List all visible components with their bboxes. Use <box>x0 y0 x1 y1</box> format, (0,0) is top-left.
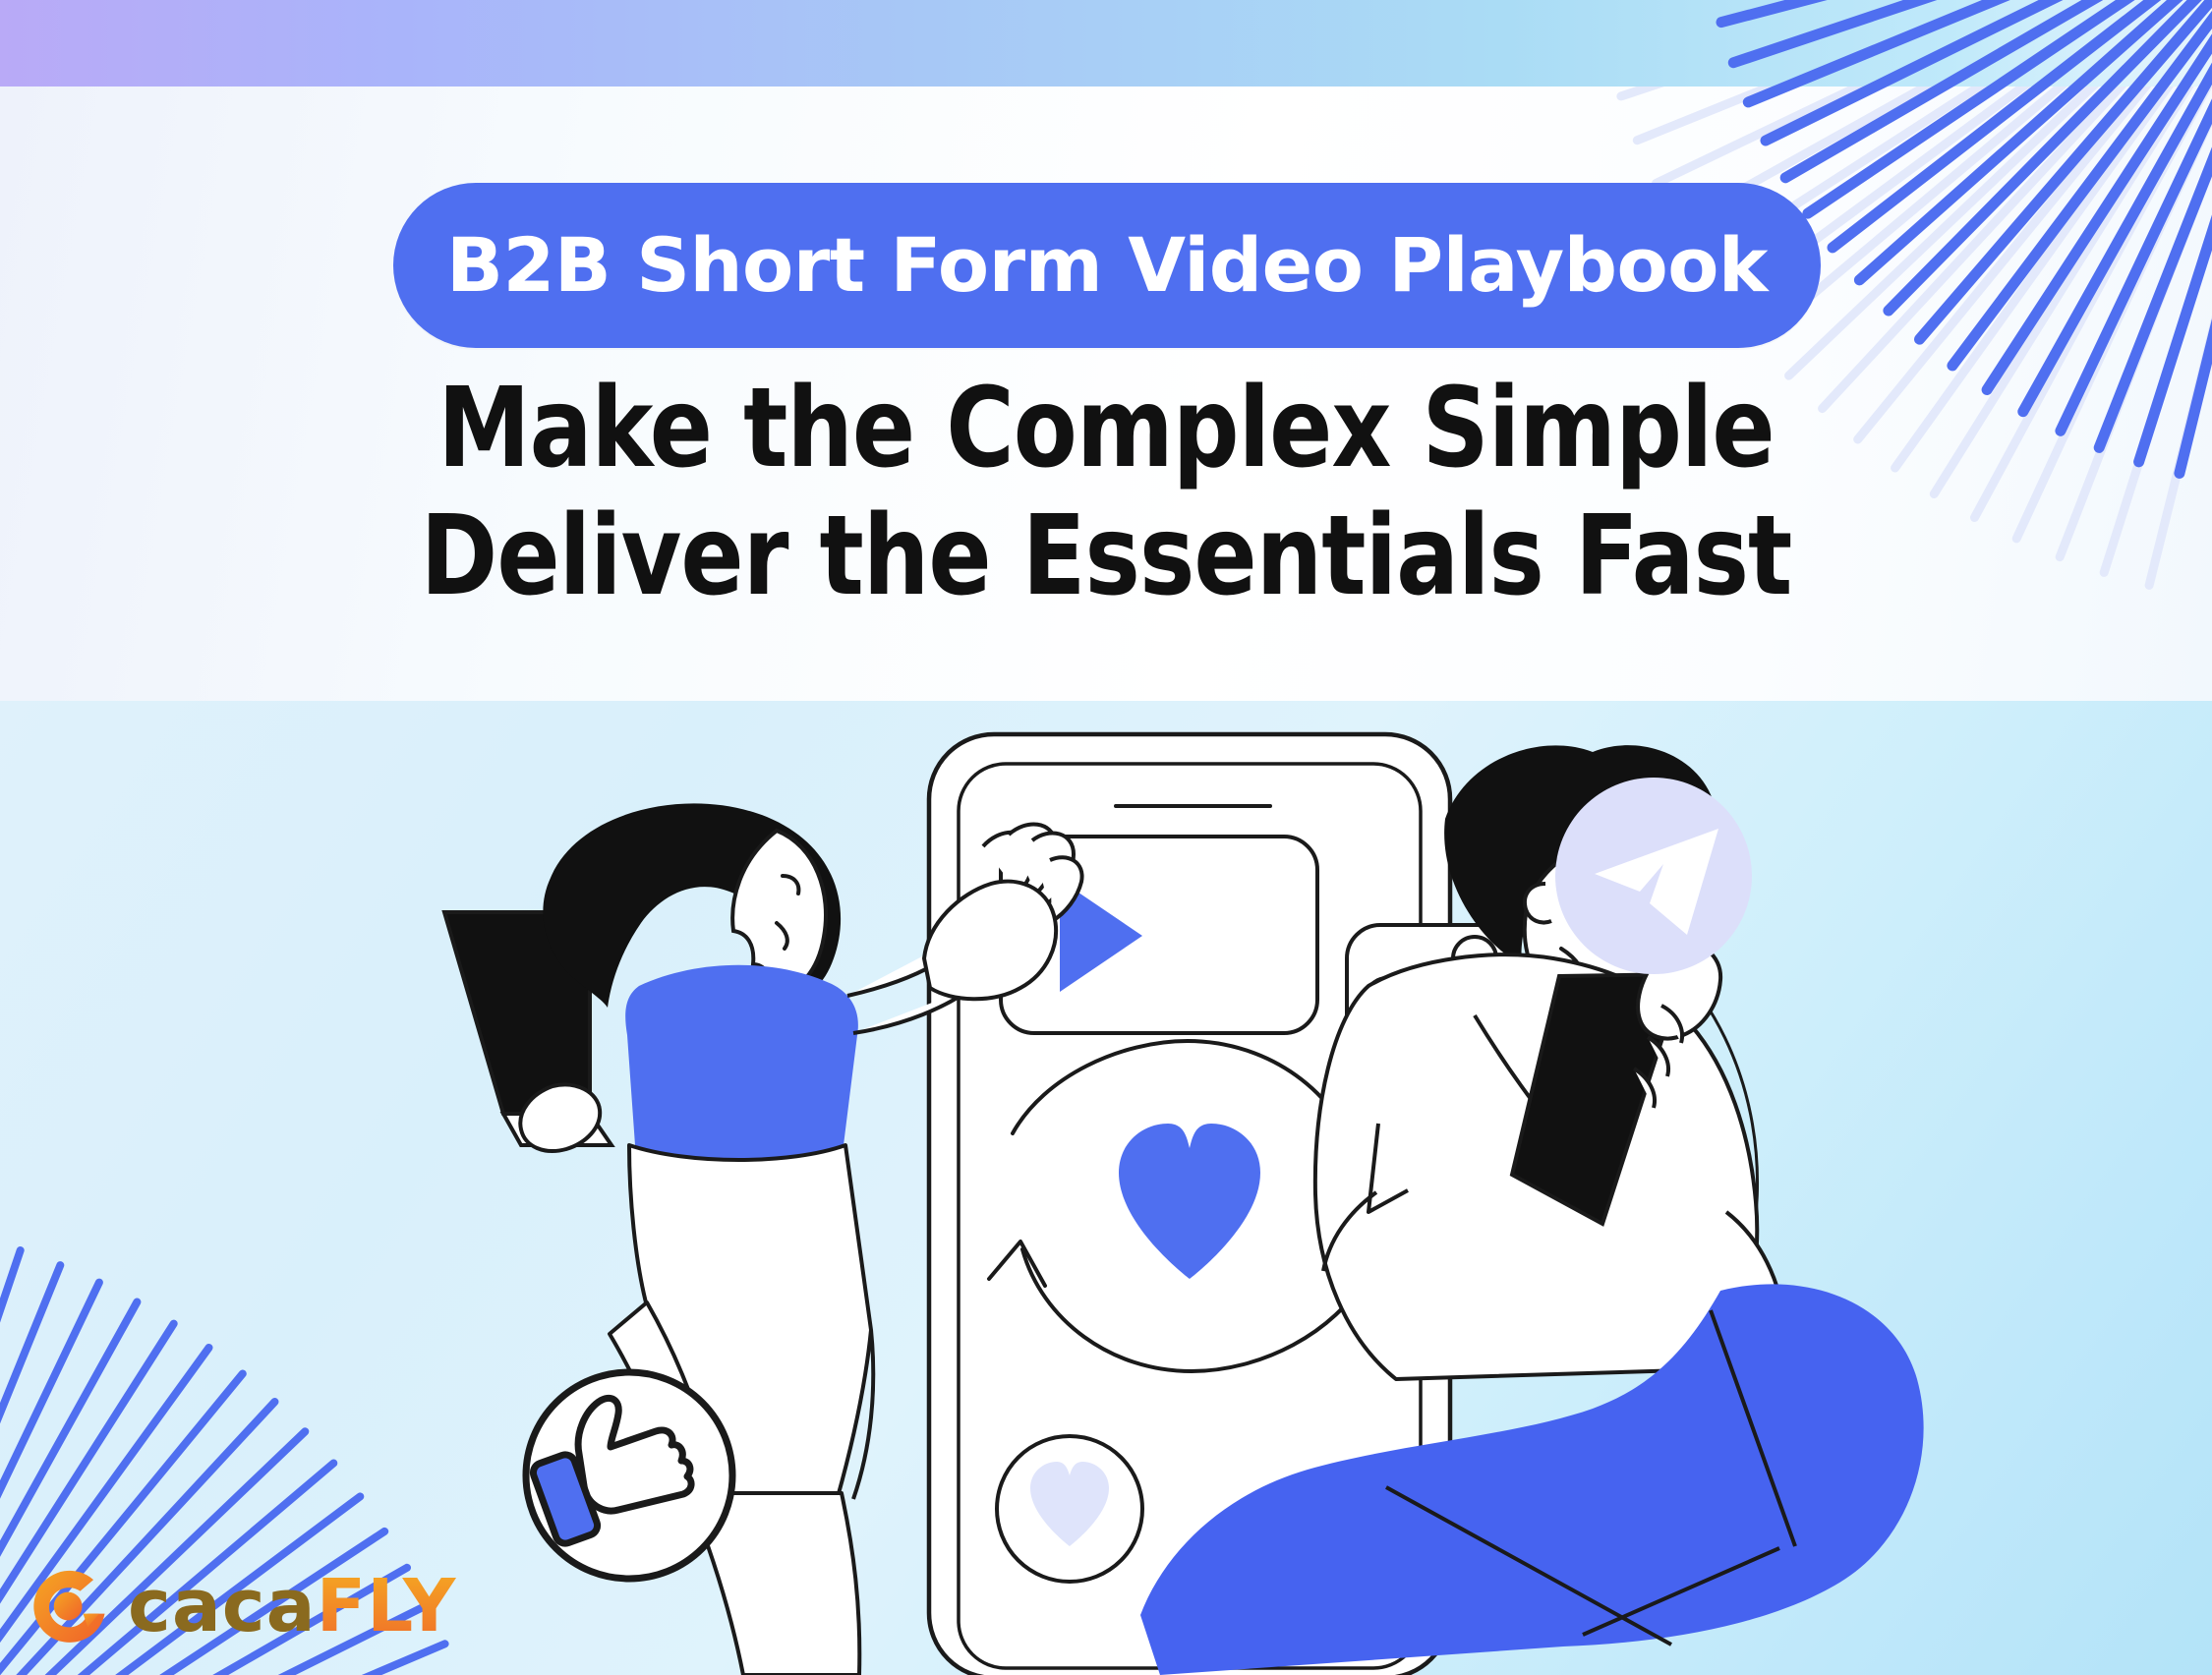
badge-pill: B2B Short Form Video Playbook <box>393 183 1821 348</box>
top-gradient-band <box>0 0 2212 87</box>
headline-line-1: Make the Complex Simple <box>67 366 2146 493</box>
brand-name-part1: caca <box>128 1570 317 1643</box>
shirt <box>625 965 858 1159</box>
small-heart-badge <box>997 1436 1142 1582</box>
thumbs-up-badge <box>516 1362 742 1588</box>
poster-canvas: B2B Short Form Video Playbook Make the C… <box>0 0 2212 1675</box>
brand-logo: cacaFLY <box>24 1553 456 1659</box>
headline-line-2: Deliver the Essentials Fast <box>67 493 2146 621</box>
send-paper-plane-badge <box>1555 778 1752 974</box>
illustration-area: cacaFLY <box>0 701 2212 1675</box>
brand-name-part2: FLY <box>317 1570 457 1643</box>
illustration-scene <box>0 701 2212 1675</box>
brand-logo-text: cacaFLY <box>128 1570 456 1643</box>
badge-label: B2B Short Form Video Playbook <box>446 228 1768 303</box>
cacafly-mark-icon <box>24 1559 118 1653</box>
page-title: Make the Complex Simple Deliver the Esse… <box>67 366 2146 621</box>
